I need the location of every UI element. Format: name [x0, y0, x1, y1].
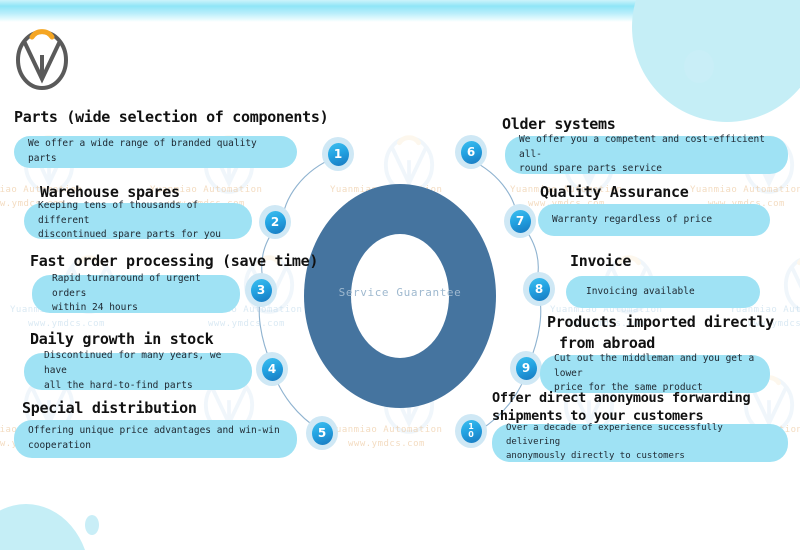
item-8-pill: Invoicing available: [566, 276, 760, 308]
badge-9[interactable]: 9: [510, 351, 542, 385]
item-2-line-2: discontinued spare parts for you: [38, 228, 240, 243]
item-3-line-1: Rapid turnaround of urgent orders: [52, 272, 228, 301]
item-10-line-2: anonymously directly to customers: [506, 450, 776, 464]
badge-2[interactable]: 2: [259, 205, 291, 239]
item-4-line-1: Discontinued for many years, we have: [44, 349, 240, 378]
badge-3[interactable]: 3: [245, 273, 277, 307]
item-6-line-2: round spare parts service: [519, 162, 776, 177]
item-3-line-2: within 24 hours: [52, 301, 228, 316]
item-5-line-2: cooperation: [28, 439, 280, 454]
item-6-heading: Older systems: [502, 115, 616, 133]
item-1-pill: We offer a wide range of branded quality…: [14, 136, 297, 168]
badge-6[interactable]: 6: [455, 135, 487, 169]
item-3-pill: Rapid turnaround of urgent orders within…: [32, 275, 240, 313]
badge-8[interactable]: 8: [523, 272, 555, 306]
item-10-pill: Over a decade of experience successfully…: [492, 424, 788, 462]
badge-1[interactable]: 1: [322, 137, 354, 171]
item-8-heading: Invoice: [570, 252, 631, 270]
item-4-heading: Daily growth in stock: [30, 330, 213, 348]
badge-5-number: 5: [312, 422, 333, 445]
item-1-heading: Parts (wide selection of components): [14, 108, 328, 126]
item-2-line-1: Keeping tens of thousands of different: [38, 199, 240, 228]
item-7-heading: Quality Assurance: [540, 183, 688, 201]
infographic-canvas: Yuanmiao Automationwww.ymdcs.comYuanmiao…: [0, 0, 800, 550]
badge-6-number: 6: [461, 141, 482, 164]
badge-10-number: 1 0: [461, 420, 482, 443]
item-10-heading-line-1: Offer direct anonymous forwarding: [492, 390, 750, 406]
item-5-pill: Offering unique price advantages and win…: [14, 420, 297, 458]
badge-3-number: 3: [251, 279, 272, 302]
item-7-pill: Warranty regardless of price: [538, 204, 770, 236]
item-9-pill: Cut out the middleman and you get a lowe…: [540, 355, 770, 393]
badge-1-number: 1: [328, 143, 349, 166]
badge-10[interactable]: 1 0: [455, 414, 487, 448]
item-7-line-1: Warranty regardless of price: [552, 213, 712, 228]
badge-4-number: 4: [262, 358, 283, 381]
item-5-heading: Special distribution: [22, 399, 197, 417]
item-3-heading: Fast order processing (save time): [30, 252, 318, 270]
item-1-line-1: We offer a wide range of branded quality…: [28, 137, 285, 166]
item-9-line-1: Cut out the middleman and you get a lowe…: [554, 352, 758, 381]
item-4-line-2: all the hard-to-find parts: [44, 379, 240, 394]
badge-7[interactable]: 7: [504, 204, 536, 238]
item-4-pill: Discontinued for many years, we have all…: [24, 353, 252, 390]
item-10-line-1: Over a decade of experience successfully…: [506, 422, 776, 450]
badge-8-number: 8: [529, 278, 550, 301]
badge-5[interactable]: 5: [306, 416, 338, 450]
badge-10-digit-bottom: 0: [468, 431, 474, 439]
badge-2-number: 2: [265, 211, 286, 234]
item-8-line-1: Invoicing available: [586, 285, 695, 300]
item-2-pill: Keeping tens of thousands of different d…: [24, 203, 252, 239]
item-9-heading-line-2: from abroad: [559, 334, 655, 352]
item-9-heading-line-1: Products imported directly: [547, 313, 774, 331]
item-5-line-1: Offering unique price advantages and win…: [28, 424, 280, 439]
badge-7-number: 7: [510, 210, 531, 233]
item-6-line-1: We offer you a competent and cost-effici…: [519, 133, 776, 162]
badge-9-number: 9: [516, 357, 537, 380]
badge-4[interactable]: 4: [256, 352, 288, 386]
item-6-pill: We offer you a competent and cost-effici…: [505, 136, 788, 174]
